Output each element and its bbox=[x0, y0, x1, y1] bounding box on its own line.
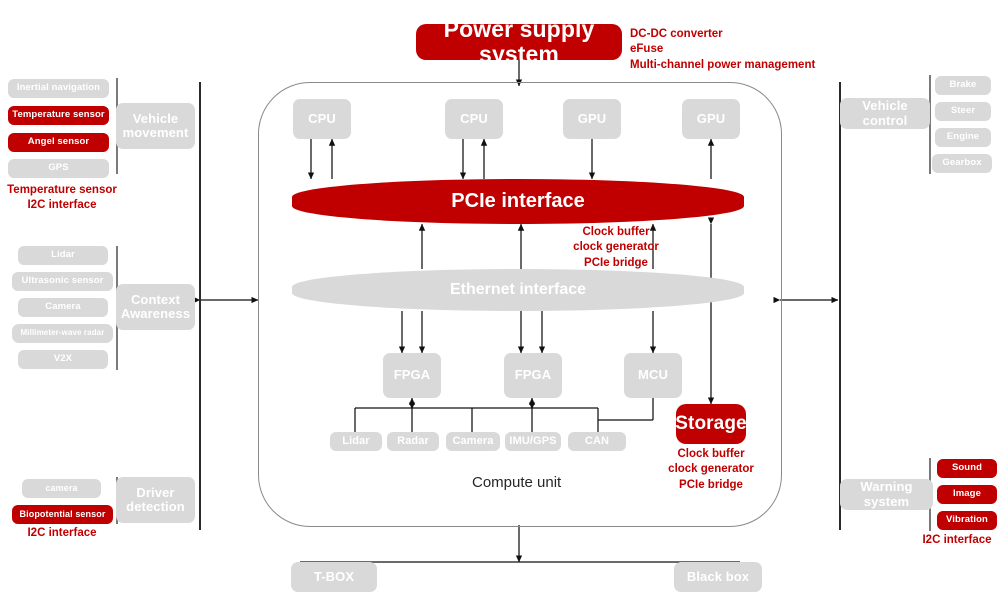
left-group-spine bbox=[199, 82, 201, 530]
sensor-angel-sensor[interactable]: Angel sensor bbox=[8, 133, 109, 152]
processor-gpu-1[interactable]: GPU bbox=[563, 99, 621, 139]
logic-mcu[interactable]: MCU bbox=[624, 353, 682, 398]
sensor-biopotential-sensor[interactable]: Biopotential sensor bbox=[12, 505, 113, 524]
compute-unit-caption: Compute unit bbox=[472, 474, 561, 491]
power-supply-annotation: DC-DC converter eFuse Multi-channel powe… bbox=[630, 27, 890, 73]
warning-vibration[interactable]: Vibration bbox=[937, 511, 997, 530]
storage-block[interactable]: Storage bbox=[676, 404, 746, 444]
power-supply-system-block[interactable]: Power supply system bbox=[416, 24, 622, 60]
sensor-driver-camera[interactable]: camera bbox=[22, 479, 101, 498]
sensor-v2x[interactable]: V2X bbox=[18, 350, 108, 369]
diagram-canvas: Compute unit Power supply system DC-DC c… bbox=[0, 0, 1000, 600]
driver-detection-annotation: I2C interface bbox=[0, 526, 124, 541]
sensor-temperature-sensor[interactable]: Temperature sensor bbox=[8, 106, 109, 125]
sensor-camera[interactable]: Camera bbox=[18, 298, 108, 317]
sensor-lidar[interactable]: Lidar bbox=[18, 246, 108, 265]
actuator-steer[interactable]: Steer bbox=[935, 102, 991, 121]
io-port-radar[interactable]: Radar bbox=[387, 432, 439, 451]
group-driver-detection-label: Driver detection bbox=[126, 486, 185, 514]
group-warning-system[interactable]: Warning system bbox=[840, 479, 933, 510]
sensor-millimeter-wave-radar[interactable]: Millimeter-wave radar bbox=[12, 324, 113, 343]
io-port-lidar[interactable]: Lidar bbox=[330, 432, 382, 451]
processor-gpu-2[interactable]: GPU bbox=[682, 99, 740, 139]
group-vehicle-movement-label: Vehicle movement bbox=[123, 112, 189, 140]
io-port-camera[interactable]: Camera bbox=[446, 432, 500, 451]
io-port-imu-gps[interactable]: IMU/GPS bbox=[505, 432, 561, 451]
warning-sound[interactable]: Sound bbox=[937, 459, 997, 478]
logic-fpga-2[interactable]: FPGA bbox=[504, 353, 562, 398]
sensor-ultrasonic-sensor[interactable]: Ultrasonic sensor bbox=[12, 272, 113, 291]
sensor-gps[interactable]: GPS bbox=[8, 159, 109, 178]
actuator-gearbox[interactable]: Gearbox bbox=[932, 154, 992, 173]
storage-annotation: Clock buffer clock generator PCIe bridge bbox=[651, 447, 771, 493]
group-context-awareness[interactable]: Context Awareness bbox=[116, 284, 195, 330]
processor-cpu-2[interactable]: CPU bbox=[445, 99, 503, 139]
ethernet-interface-bar[interactable]: Ethernet interface bbox=[292, 269, 744, 311]
right-group-spine bbox=[839, 82, 841, 530]
warning-image[interactable]: Image bbox=[937, 485, 997, 504]
pcie-interface-bar[interactable]: PCIe interface bbox=[292, 179, 744, 224]
black-box-block[interactable]: Black box bbox=[674, 562, 762, 592]
pcie-annotation: Clock buffer clock generator PCIe bridge bbox=[536, 225, 696, 271]
group-vehicle-movement[interactable]: Vehicle movement bbox=[116, 103, 195, 149]
sensor-inertial-navigation[interactable]: Inertial navigation bbox=[8, 79, 109, 98]
group-context-awareness-label: Context Awareness bbox=[121, 293, 190, 321]
actuator-brake[interactable]: Brake bbox=[935, 76, 991, 95]
tbox-block[interactable]: T-BOX bbox=[291, 562, 377, 592]
logic-fpga-1[interactable]: FPGA bbox=[383, 353, 441, 398]
group-vehicle-control[interactable]: Vehicle control bbox=[840, 98, 930, 129]
actuator-engine[interactable]: Engine bbox=[935, 128, 991, 147]
warning-system-annotation: I2C interface bbox=[917, 533, 997, 548]
group-driver-detection[interactable]: Driver detection bbox=[116, 477, 195, 523]
processor-cpu-1[interactable]: CPU bbox=[293, 99, 351, 139]
io-port-can[interactable]: CAN bbox=[568, 432, 626, 451]
vehicle-movement-annotation: Temperature sensor I2C interface bbox=[0, 183, 124, 214]
